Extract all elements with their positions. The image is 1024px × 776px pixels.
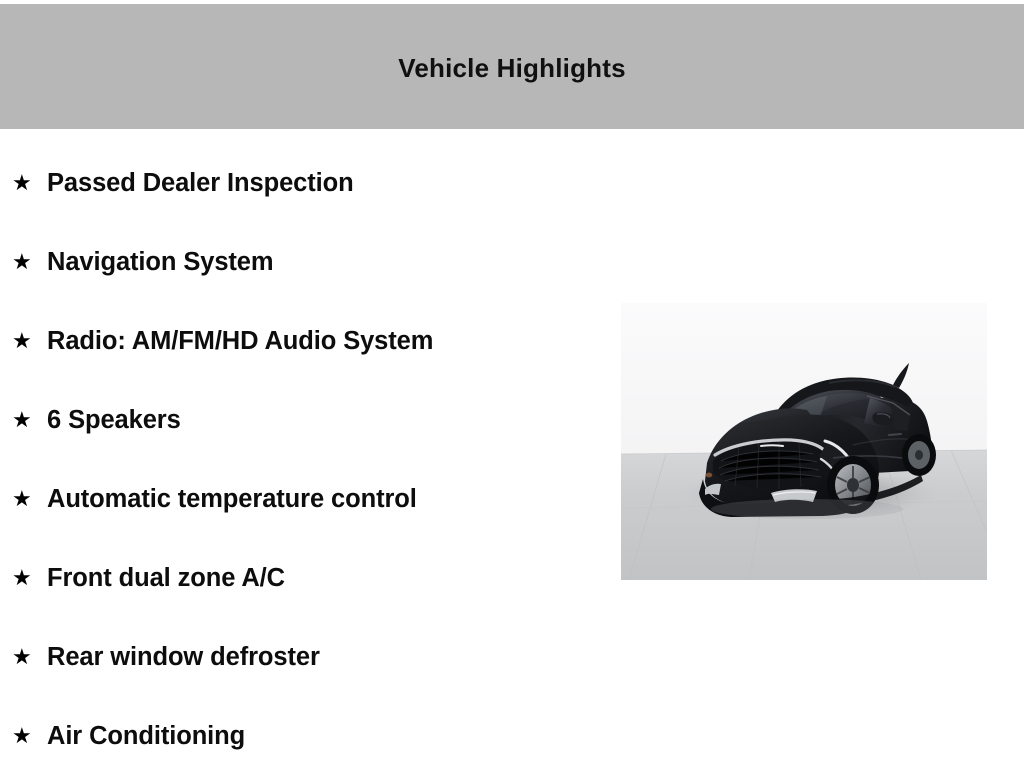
highlight-label: Passed Dealer Inspection [47, 169, 354, 197]
vehicle-image [621, 303, 987, 580]
header-banner: Vehicle Highlights [0, 4, 1024, 129]
star-icon: ★ [12, 330, 36, 352]
vehicle-illustration [621, 303, 987, 580]
star-icon: ★ [12, 488, 36, 510]
list-item: ★ Radio: AM/FM/HD Audio System [0, 302, 600, 381]
highlight-label: Rear window defroster [47, 643, 320, 671]
list-item: ★ Passed Dealer Inspection [0, 144, 600, 223]
star-icon: ★ [12, 725, 36, 747]
rear-wheel [902, 434, 936, 476]
vehicle-highlights-list: ★ Passed Dealer Inspection ★ Navigation … [0, 144, 600, 776]
highlight-label: Front dual zone A/C [47, 564, 285, 592]
page-title: Vehicle Highlights [398, 55, 626, 81]
star-icon: ★ [12, 251, 36, 273]
star-icon: ★ [12, 646, 36, 668]
highlight-label: Navigation System [47, 248, 273, 276]
list-item: ★ Air Conditioning [0, 697, 600, 776]
list-item: ★ Navigation System [0, 223, 600, 302]
list-item: ★ Rear window defroster [0, 618, 600, 697]
highlight-label: Automatic temperature control [47, 485, 417, 513]
highlight-label: Radio: AM/FM/HD Audio System [47, 327, 433, 355]
star-icon: ★ [12, 567, 36, 589]
list-item: ★ Automatic temperature control [0, 460, 600, 539]
highlight-label: 6 Speakers [47, 406, 181, 434]
highlight-label: Air Conditioning [47, 722, 245, 750]
vehicle-highlights-page: Vehicle Highlights ★ Passed Dealer Inspe… [0, 0, 1024, 768]
list-item: ★ Front dual zone A/C [0, 539, 600, 618]
star-icon: ★ [12, 172, 36, 194]
star-icon: ★ [12, 409, 36, 431]
list-item: ★ 6 Speakers [0, 381, 600, 460]
